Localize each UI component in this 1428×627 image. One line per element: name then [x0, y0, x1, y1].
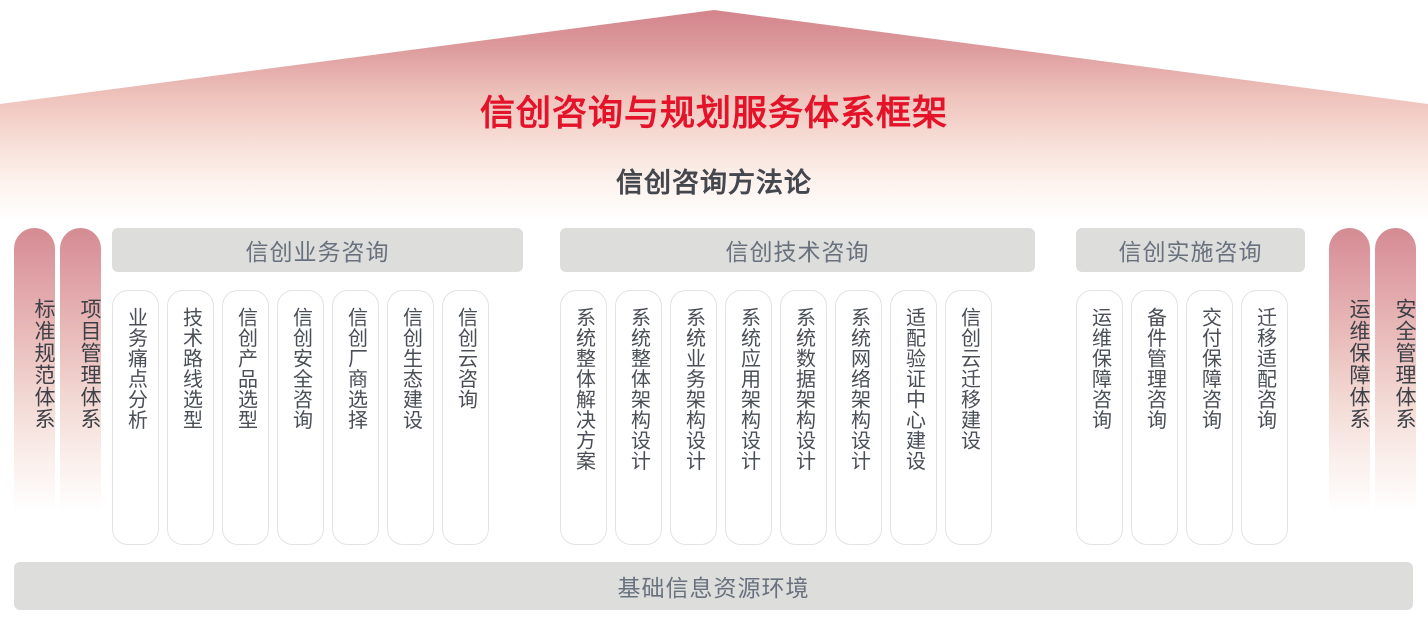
group-item-list: 运维保障咨询 备件管理咨询 交付保障咨询 迁移适配咨询: [1076, 290, 1288, 545]
service-card[interactable]: 迁移适配咨询: [1241, 290, 1288, 545]
service-card-label: 系统应用架构设计: [738, 307, 760, 471]
service-card[interactable]: 系统整体架构设计: [615, 290, 662, 545]
service-card[interactable]: 交付保障咨询: [1186, 290, 1233, 545]
page-title: 信创咨询与规划服务体系框架: [0, 96, 1428, 131]
service-card[interactable]: 信创厂商选择: [332, 290, 379, 545]
service-card-label: 系统整体架构设计: [628, 307, 650, 471]
service-card-label: 系统网络架构设计: [848, 307, 870, 471]
service-card[interactable]: 系统数据架构设计: [780, 290, 827, 545]
service-card[interactable]: 信创安全咨询: [277, 290, 324, 545]
pillar-ops-assurance-system: 运维保障体系: [1329, 228, 1370, 528]
service-card-label: 适配验证中心建设: [903, 307, 925, 471]
group-business-consulting: 信创业务咨询 业务痛点分析 技术路线选型 信创产品选型 信创安全咨询 信创厂商选…: [112, 228, 523, 272]
pillar-label: 运维保障体系: [1329, 298, 1370, 430]
service-card[interactable]: 系统网络架构设计: [835, 290, 882, 545]
group-implementation-consulting: 信创实施咨询 运维保障咨询 备件管理咨询 交付保障咨询 迁移适配咨询: [1076, 228, 1305, 272]
service-card[interactable]: 运维保障咨询: [1076, 290, 1123, 545]
service-card-label: 信创厂商选择: [345, 307, 367, 430]
service-card-label: 信创生态建设: [400, 307, 422, 430]
service-card[interactable]: 系统整体解决方案: [560, 290, 607, 545]
service-card[interactable]: 适配验证中心建设: [890, 290, 937, 545]
service-card[interactable]: 备件管理咨询: [1131, 290, 1178, 545]
group-header: 信创实施咨询: [1076, 228, 1305, 272]
group-item-list: 系统整体解决方案 系统整体架构设计 系统业务架构设计 系统应用架构设计 系统数据…: [560, 290, 992, 545]
service-card[interactable]: 信创产品选型: [222, 290, 269, 545]
service-card-label: 技术路线选型: [180, 307, 202, 430]
pillar-project-management-system: 项目管理体系: [60, 228, 101, 528]
service-card-label: 迁移适配咨询: [1254, 307, 1276, 430]
service-card-label: 交付保障咨询: [1199, 307, 1221, 430]
service-card[interactable]: 系统应用架构设计: [725, 290, 772, 545]
group-technical-consulting: 信创技术咨询 系统整体解决方案 系统整体架构设计 系统业务架构设计 系统应用架构…: [560, 228, 1035, 272]
diagram-canvas: 信创咨询与规划服务体系框架 信创咨询方法论 标准规范体系 项目管理体系 运维保障…: [0, 0, 1428, 627]
service-card[interactable]: 业务痛点分析: [112, 290, 159, 545]
group-header: 信创技术咨询: [560, 228, 1035, 272]
service-card-label: 备件管理咨询: [1144, 307, 1166, 430]
group-header: 信创业务咨询: [112, 228, 523, 272]
pillar-label: 安全管理体系: [1375, 298, 1416, 430]
service-card-label: 信创安全咨询: [290, 307, 312, 430]
pillar-security-management-system: 安全管理体系: [1375, 228, 1416, 528]
service-card[interactable]: 系统业务架构设计: [670, 290, 717, 545]
service-card[interactable]: 信创云咨询: [442, 290, 489, 545]
service-card-label: 信创云咨询: [455, 307, 477, 410]
service-card-label: 系统数据架构设计: [793, 307, 815, 471]
service-card[interactable]: 技术路线选型: [167, 290, 214, 545]
service-card[interactable]: 信创生态建设: [387, 290, 434, 545]
page-subtitle: 信创咨询方法论: [0, 170, 1428, 197]
service-card[interactable]: 信创云迁移建设: [945, 290, 992, 545]
service-card-label: 系统整体解决方案: [573, 307, 595, 471]
pillar-standard-spec-system: 标准规范体系: [14, 228, 55, 528]
service-card-label: 信创云迁移建设: [958, 307, 980, 451]
service-card-label: 运维保障咨询: [1089, 307, 1111, 430]
service-card-label: 信创产品选型: [235, 307, 257, 430]
service-card-label: 业务痛点分析: [125, 307, 147, 430]
foundation-bar: 基础信息资源环境: [14, 562, 1413, 610]
group-item-list: 业务痛点分析 技术路线选型 信创产品选型 信创安全咨询 信创厂商选择 信创生态建…: [112, 290, 489, 545]
pillar-label: 项目管理体系: [60, 298, 101, 430]
service-card-label: 系统业务架构设计: [683, 307, 705, 471]
pillar-label: 标准规范体系: [14, 298, 55, 430]
